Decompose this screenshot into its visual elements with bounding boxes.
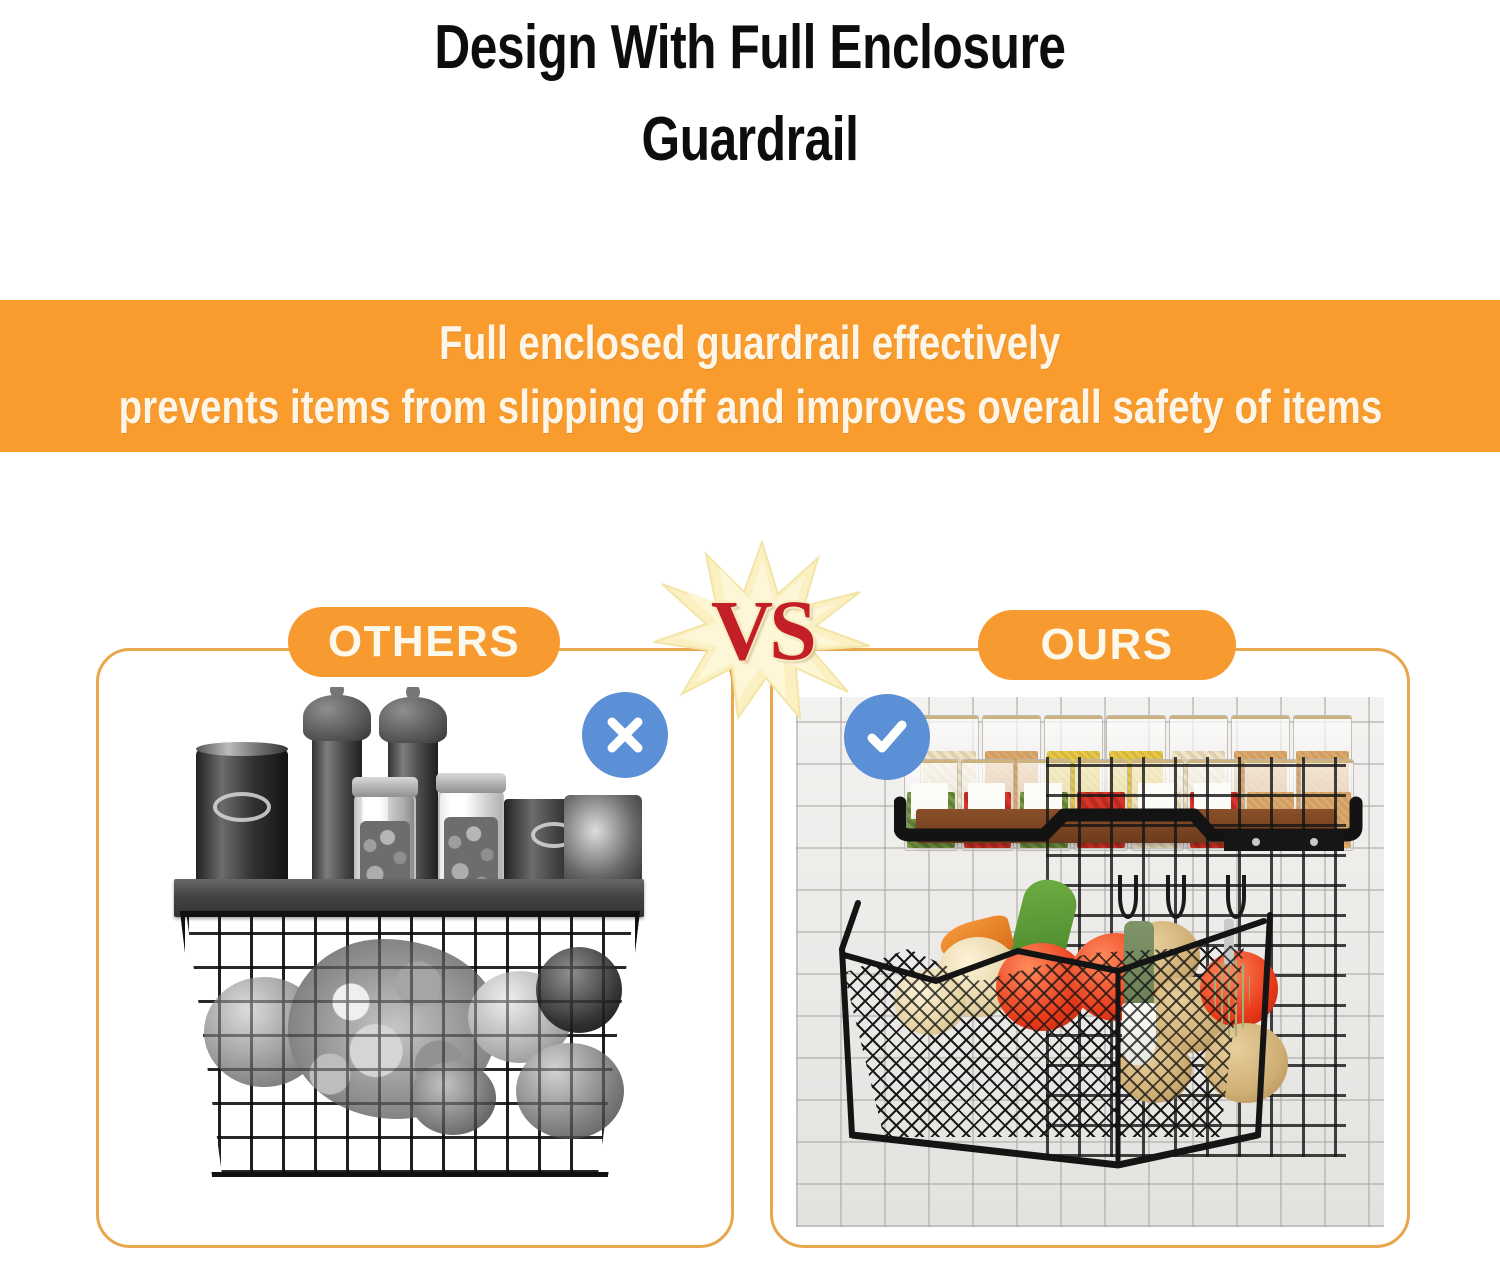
canned-food-left [196,749,288,887]
banner-line-1: Full enclosed guardrail effectively [439,312,1060,374]
jar-lid [1231,715,1290,719]
jar-lid [920,715,979,719]
can-lid-icon [196,742,288,756]
feature-banner: Full enclosed guardrail effectively prev… [0,300,1500,452]
jar-lid [352,777,418,797]
badge-others: OTHERS [288,607,560,677]
title-line-1: Design With Full Enclosure [150,2,1350,94]
banner-line-2: prevents items from slipping off and imp… [118,374,1382,440]
vs-badge: VS [652,540,872,720]
grinder-cap [303,695,371,741]
comparison-section: OTHERS OURS VS [0,452,1500,1287]
infographic-page: Design With Full Enclosure Guardrail Ful… [0,0,1500,1287]
basket-wire-frame [818,885,1338,1185]
wire-basket-ours [818,885,1338,1185]
basket-frame-front [180,911,640,1177]
grinder-cap [379,697,447,743]
title-line-2: Guardrail [150,94,1350,186]
jar-lid [1169,715,1228,719]
page-title: Design With Full Enclosure Guardrail [0,0,1500,186]
badge-others-label: OTHERS [328,617,520,667]
jar-lid [1293,715,1352,719]
full-enclosure-guardrail [894,793,1364,851]
can-logo [213,792,271,822]
jar-lid [1044,715,1103,719]
wire-basket-others [168,911,652,1211]
badge-ours: OURS [978,610,1236,680]
jar-lid [982,715,1041,719]
jar-lid [436,773,506,793]
jar-lid [961,759,1015,763]
vs-label: VS [652,540,872,720]
canned-food-end [564,795,642,885]
badge-ours-label: OURS [1040,620,1173,670]
jar-lid [1106,715,1165,719]
others-product-photo [160,687,660,1232]
